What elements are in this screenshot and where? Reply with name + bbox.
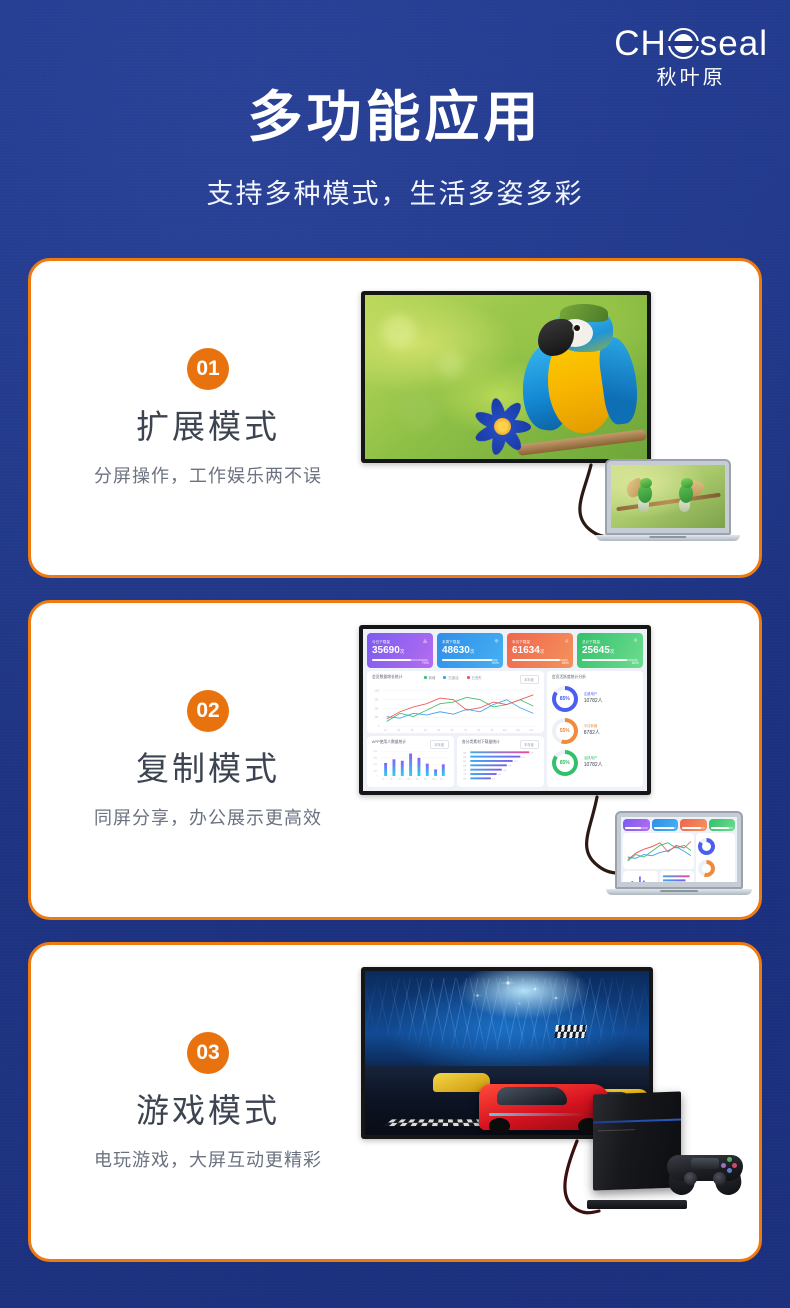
svg-text:3月: 3月 (411, 727, 414, 731)
parrot-wallpaper (365, 295, 647, 459)
period-selector[interactable]: 本年度 (430, 740, 449, 749)
laptop-base (596, 535, 740, 541)
svg-text:周日: 周日 (432, 778, 435, 781)
gamepad-stick-right (713, 1172, 726, 1185)
dashboard-left-column (623, 833, 694, 882)
svg-text:2200: 2200 (521, 757, 524, 759)
feature-title: 游戏模式 (53, 1084, 363, 1132)
page-subtitle: 支持多种模式，生活多姿多彩 (0, 172, 790, 211)
donut-gauge: 85% (552, 686, 578, 712)
svg-text:音效: 音效 (463, 756, 466, 759)
svg-text:2634: 2634 (530, 753, 533, 755)
gauge-row: 85% 注册用户 10782人 (552, 686, 638, 712)
kpi-percent: 90% (492, 661, 499, 665)
kpi-percent: 80% (632, 661, 639, 665)
blue-flower (467, 397, 537, 455)
svg-text:模板: 模板 (463, 765, 466, 768)
gauge-panel: ··· ··· ··· (696, 833, 735, 882)
gauge-meta: 注册用户 10782人 (584, 692, 603, 705)
hbar-chart-panel (660, 871, 695, 882)
svg-text:0: 0 (378, 724, 380, 727)
feature-card-extend-mode[interactable]: 01 扩展模式 分屏操作，工作娱乐两不误 (28, 258, 762, 578)
dashboard-kpi-row (623, 819, 735, 831)
brand-logo-ch: CH (614, 26, 667, 61)
svg-text:字体: 字体 (463, 773, 466, 776)
gauge-row: 55% 今日新增 8782人 (552, 718, 638, 744)
gamepad-face-buttons (721, 1157, 737, 1173)
brand-logo-seal: seal (700, 26, 768, 61)
kpi-card (709, 819, 736, 831)
gauge-row: 85% 活跃用户 10782人 (552, 750, 638, 776)
beeeater-wallpaper (611, 465, 725, 528)
hbar-chart-svg: 视频音效图片 模板文案字体 插件 (462, 747, 539, 782)
tv-screen: ▲ 今日下载量 35690次 70% ● 本周下载量 (363, 629, 647, 791)
gauge-meta: ··· (718, 844, 721, 848)
svg-text:10月: 10月 (503, 727, 507, 731)
feature-description: 电玩游戏，大屏互动更精彩 (53, 1146, 363, 1172)
svg-text:600: 600 (375, 707, 379, 710)
feature-visual-extend (359, 261, 759, 575)
svg-text:插件: 插件 (463, 778, 466, 781)
feature-card-text-block: 01 扩展模式 分屏操作，工作娱乐两不误 (53, 348, 363, 488)
dashboard-left-column: 会员数量增长统计 新增 已激活 已流失 本年度 (367, 671, 544, 787)
svg-text:1640: 1640 (508, 766, 511, 768)
svg-text:文案: 文案 (463, 769, 466, 772)
kpi-card (652, 819, 679, 831)
svg-text:8月: 8月 (477, 727, 480, 731)
feature-card-text-block: 03 游戏模式 电玩游戏，大屏互动更精彩 (53, 1032, 363, 1172)
kpi-label: 总计下载量 (582, 640, 638, 645)
svg-text:12月: 12月 (529, 727, 533, 731)
bar-chart-svg: 25002000 150010000 (372, 747, 449, 782)
kpi-value: 61634次 (512, 646, 568, 656)
svg-text:周三: 周三 (399, 778, 402, 781)
svg-text:6月: 6月 (451, 727, 454, 731)
feature-description: 同屏分享，办公展示更高效 (53, 804, 363, 830)
panel-title: 会员活跃度统计分析 (552, 675, 638, 680)
laptop-device: ··· ··· ··· (615, 811, 743, 895)
feature-card-game-mode[interactable]: 03 游戏模式 电玩游戏，大屏互动更精彩 (28, 942, 762, 1262)
kpi-card (680, 819, 707, 831)
brand-logo: CH seal 秋叶原 (614, 26, 768, 88)
svg-text:300: 300 (375, 716, 379, 719)
bird-right (670, 478, 700, 512)
donut-gauge: 85% (552, 750, 578, 776)
kpi-label: 本月下载量 (512, 640, 568, 645)
feature-number-badge: 02 (187, 690, 229, 732)
product-promo-page: CH seal 秋叶原 多功能应用 支持多种模式，生活多姿多彩 01 扩展模式 … (0, 0, 790, 1308)
svg-text:1870: 1870 (514, 761, 517, 763)
svg-text:图片: 图片 (463, 760, 466, 763)
gamepad-touchpad (691, 1158, 718, 1169)
feature-description: 分屏操作，工作娱乐两不误 (53, 462, 363, 488)
gauge-row: ··· (698, 838, 733, 855)
line-chart-svg: 1200900 6003000 1月2月3月 4月5月6月 (372, 686, 539, 733)
legend-item: 已激活 (443, 675, 458, 680)
svg-text:2500: 2500 (373, 751, 377, 753)
kpi-card: ▲ 今日下载量 35690次 70% (367, 633, 433, 668)
svg-text:视频: 视频 (463, 752, 466, 755)
svg-text:1500: 1500 (373, 764, 377, 766)
svg-text:1400: 1400 (503, 770, 506, 772)
brand-logo-o-icon (668, 28, 699, 59)
feature-number-badge: 01 (187, 348, 229, 390)
kpi-card: ✦ 总计下载量 25645次 80% (577, 633, 643, 668)
gauge-meta: 活跃用户 10782人 (584, 756, 603, 769)
feature-card-duplicate-mode[interactable]: 02 复制模式 同屏分享，办公展示更高效 ▲ 今日下载量 (28, 600, 762, 920)
dashboard-kpi-row: ▲ 今日下载量 35690次 70% ● 本周下载量 (367, 633, 643, 668)
donut-gauge: 55% (552, 718, 578, 744)
dashboard-ui: ▲ 今日下载量 35690次 70% ● 本周下载量 (363, 629, 647, 791)
stage-lights (365, 971, 649, 1061)
svg-text:9月: 9月 (491, 727, 494, 731)
line-chart-panel (623, 833, 694, 869)
kpi-card (623, 819, 650, 831)
svg-text:1200: 1200 (375, 689, 380, 692)
hbar-chart-panel: 各分类素材下载量统计 本年度 (457, 736, 544, 787)
feature-card-text-block: 02 复制模式 同屏分享，办公展示更高效 (53, 690, 363, 830)
svg-text:4月: 4月 (424, 727, 427, 731)
donut-gauge (698, 860, 715, 877)
feature-title: 复制模式 (53, 742, 363, 790)
laptop-screen (611, 465, 725, 528)
gamepad-stick-left (684, 1172, 697, 1185)
kpi-card: ◕ 本月下载量 61634次 85% (507, 633, 573, 668)
hbar-chart-svg (662, 873, 693, 882)
laptop-device (605, 459, 731, 541)
svg-text:5月: 5月 (437, 727, 440, 731)
svg-text:合计: 合计 (440, 778, 443, 781)
svg-text:0: 0 (377, 776, 378, 778)
bar-chart-svg (625, 873, 656, 882)
svg-text:周二: 周二 (391, 778, 394, 781)
period-selector[interactable]: 本年度 (520, 740, 539, 749)
laptop-lid (605, 459, 731, 535)
svg-text:11月: 11月 (516, 727, 520, 731)
bar-chart-panel (623, 871, 658, 882)
kpi-value: 25645次 (582, 646, 638, 656)
gauge-panel: 会员活跃度统计分析 85% 注册用户 10782人 (547, 671, 643, 787)
svg-text:周六: 周六 (424, 778, 427, 781)
gamepad-controller (667, 1147, 743, 1195)
brand-logo-chinese: 秋叶原 (614, 68, 768, 88)
bar-chart-panel: APP使用人数量统计 本年度 (367, 736, 454, 787)
svg-text:900: 900 (375, 698, 379, 701)
gauge-row: ··· (698, 860, 733, 877)
tv-screen (365, 295, 647, 459)
macaw-parrot (523, 306, 636, 447)
checkered-flag (554, 1025, 587, 1038)
feature-visual-game (359, 945, 759, 1259)
svg-text:1000: 1000 (373, 771, 377, 773)
feature-visual-duplicate: ▲ 今日下载量 35690次 70% ● 本周下载量 (359, 603, 759, 917)
gauge-meta: ··· (718, 866, 721, 870)
svg-text:周五: 周五 (416, 778, 419, 781)
dashboard-body: 会员数量增长统计 新增 已激活 已流失 本年度 (367, 671, 643, 787)
legend-item: 新增 (424, 675, 436, 680)
feature-number-badge: 03 (187, 1032, 229, 1074)
svg-text:7月: 7月 (464, 727, 467, 731)
kpi-card: ● 本周下载量 48630次 90% (437, 633, 503, 668)
period-selector[interactable]: 本年度 (520, 675, 539, 684)
laptop-screen: ··· ··· ··· (621, 817, 737, 882)
svg-text:周四: 周四 (407, 778, 410, 781)
svg-text:1月: 1月 (384, 727, 387, 731)
tv-monitor: ▲ 今日下载量 35690次 70% ● 本周下载量 (359, 625, 651, 795)
donut-gauge (698, 838, 715, 855)
laptop-base (606, 889, 752, 895)
line-chart-svg (625, 835, 692, 867)
kpi-label: 今日下载量 (372, 640, 428, 645)
svg-text:2000: 2000 (373, 758, 377, 760)
dashboard-ui-mirror: ··· ··· ··· (621, 817, 737, 882)
console-stand (587, 1200, 687, 1209)
feature-title: 扩展模式 (53, 400, 363, 448)
legend-item: 已流失 (467, 675, 482, 680)
red-car (479, 1084, 610, 1130)
svg-text:周一: 周一 (382, 778, 385, 781)
brand-logo-wordmark: CH seal (614, 26, 768, 61)
chart-legend: 新增 已激活 已流失 (424, 675, 482, 680)
svg-text:1180: 1180 (498, 774, 501, 776)
laptop-lid: ··· ··· ··· (615, 811, 743, 889)
svg-text:900: 900 (492, 779, 495, 781)
kpi-label: 本周下载量 (442, 640, 498, 645)
page-title: 多功能应用 (0, 86, 790, 149)
bird-left (629, 478, 659, 512)
kpi-value: 48630次 (442, 646, 498, 656)
kpi-value: 35690次 (372, 646, 428, 656)
svg-text:2月: 2月 (397, 727, 400, 731)
kpi-percent: 85% (562, 661, 569, 665)
game-console (593, 1093, 743, 1203)
dashboard-body: ··· ··· ··· (623, 833, 735, 882)
line-chart-panel: 会员数量增长统计 新增 已激活 已流失 本年度 (367, 671, 544, 734)
tv-monitor (361, 291, 651, 463)
gauge-meta: 今日新增 8782人 (584, 724, 600, 737)
kpi-percent: 70% (422, 661, 429, 665)
